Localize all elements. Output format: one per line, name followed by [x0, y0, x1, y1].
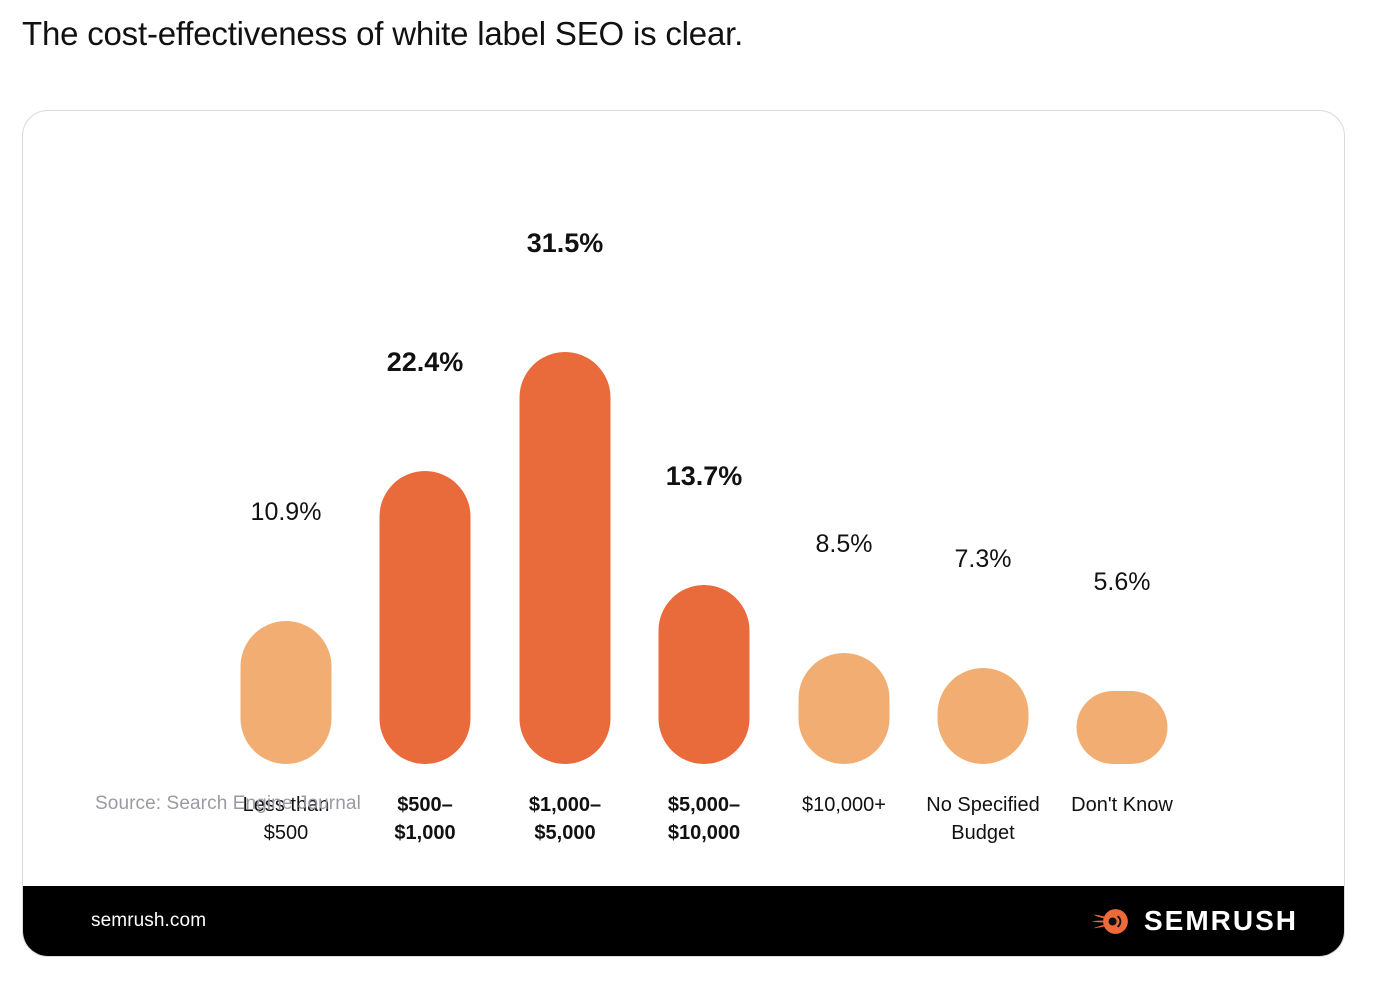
- page-title: The cost-effectiveness of white label SE…: [22, 12, 743, 56]
- bar-shape[interactable]: [1077, 691, 1168, 764]
- bar-value-label: 8.5%: [784, 530, 904, 558]
- bar-category-label-line2: $10,000: [644, 819, 764, 847]
- bar-shape[interactable]: [380, 471, 471, 764]
- bar-category-label: $1,000–: [505, 791, 625, 819]
- bar-value-label: 10.9%: [226, 498, 346, 526]
- bar-category-label: $500–: [365, 791, 485, 819]
- bar-category-label-line2: $5,000: [505, 819, 625, 847]
- semrush-comet-icon: [1091, 906, 1131, 937]
- chart-card: 10.9% Less than $500 22.4% $500– $1,000 …: [22, 110, 1345, 957]
- bar-shape[interactable]: [241, 621, 332, 764]
- semrush-wordmark: SEMRUSH: [1144, 905, 1298, 937]
- bar-chart: 10.9% Less than $500 22.4% $500– $1,000 …: [23, 111, 1344, 956]
- chart-page: The cost-effectiveness of white label SE…: [0, 0, 1380, 998]
- bar-category-label: $5,000–: [644, 791, 764, 819]
- bar-value-label: 31.5%: [505, 229, 625, 257]
- footer-bar: semrush.com SEMRUSH: [23, 886, 1344, 956]
- footer-url[interactable]: semrush.com: [91, 910, 206, 932]
- source-note: Source: Search Engine Journal: [95, 793, 361, 815]
- bar-value-label: 5.6%: [1062, 568, 1182, 596]
- bar-category-label-line2: $500: [226, 819, 346, 847]
- bar-value-label: 22.4%: [365, 348, 485, 376]
- bar-category-label-line2: Budget: [923, 819, 1043, 847]
- bar-category-label-line2: $1,000: [365, 819, 485, 847]
- bar-shape[interactable]: [659, 585, 750, 764]
- semrush-logo[interactable]: SEMRUSH: [1091, 905, 1298, 937]
- bar-shape[interactable]: [520, 352, 611, 764]
- bar-shape[interactable]: [799, 653, 890, 764]
- bar-value-label: 7.3%: [923, 545, 1043, 573]
- bar-category-label: Don't Know: [1062, 791, 1182, 819]
- bar-category-label: $10,000+: [784, 791, 904, 819]
- bar-category-label: No Specified: [923, 791, 1043, 819]
- bar-shape[interactable]: [938, 668, 1029, 764]
- bar-value-label: 13.7%: [644, 462, 764, 490]
